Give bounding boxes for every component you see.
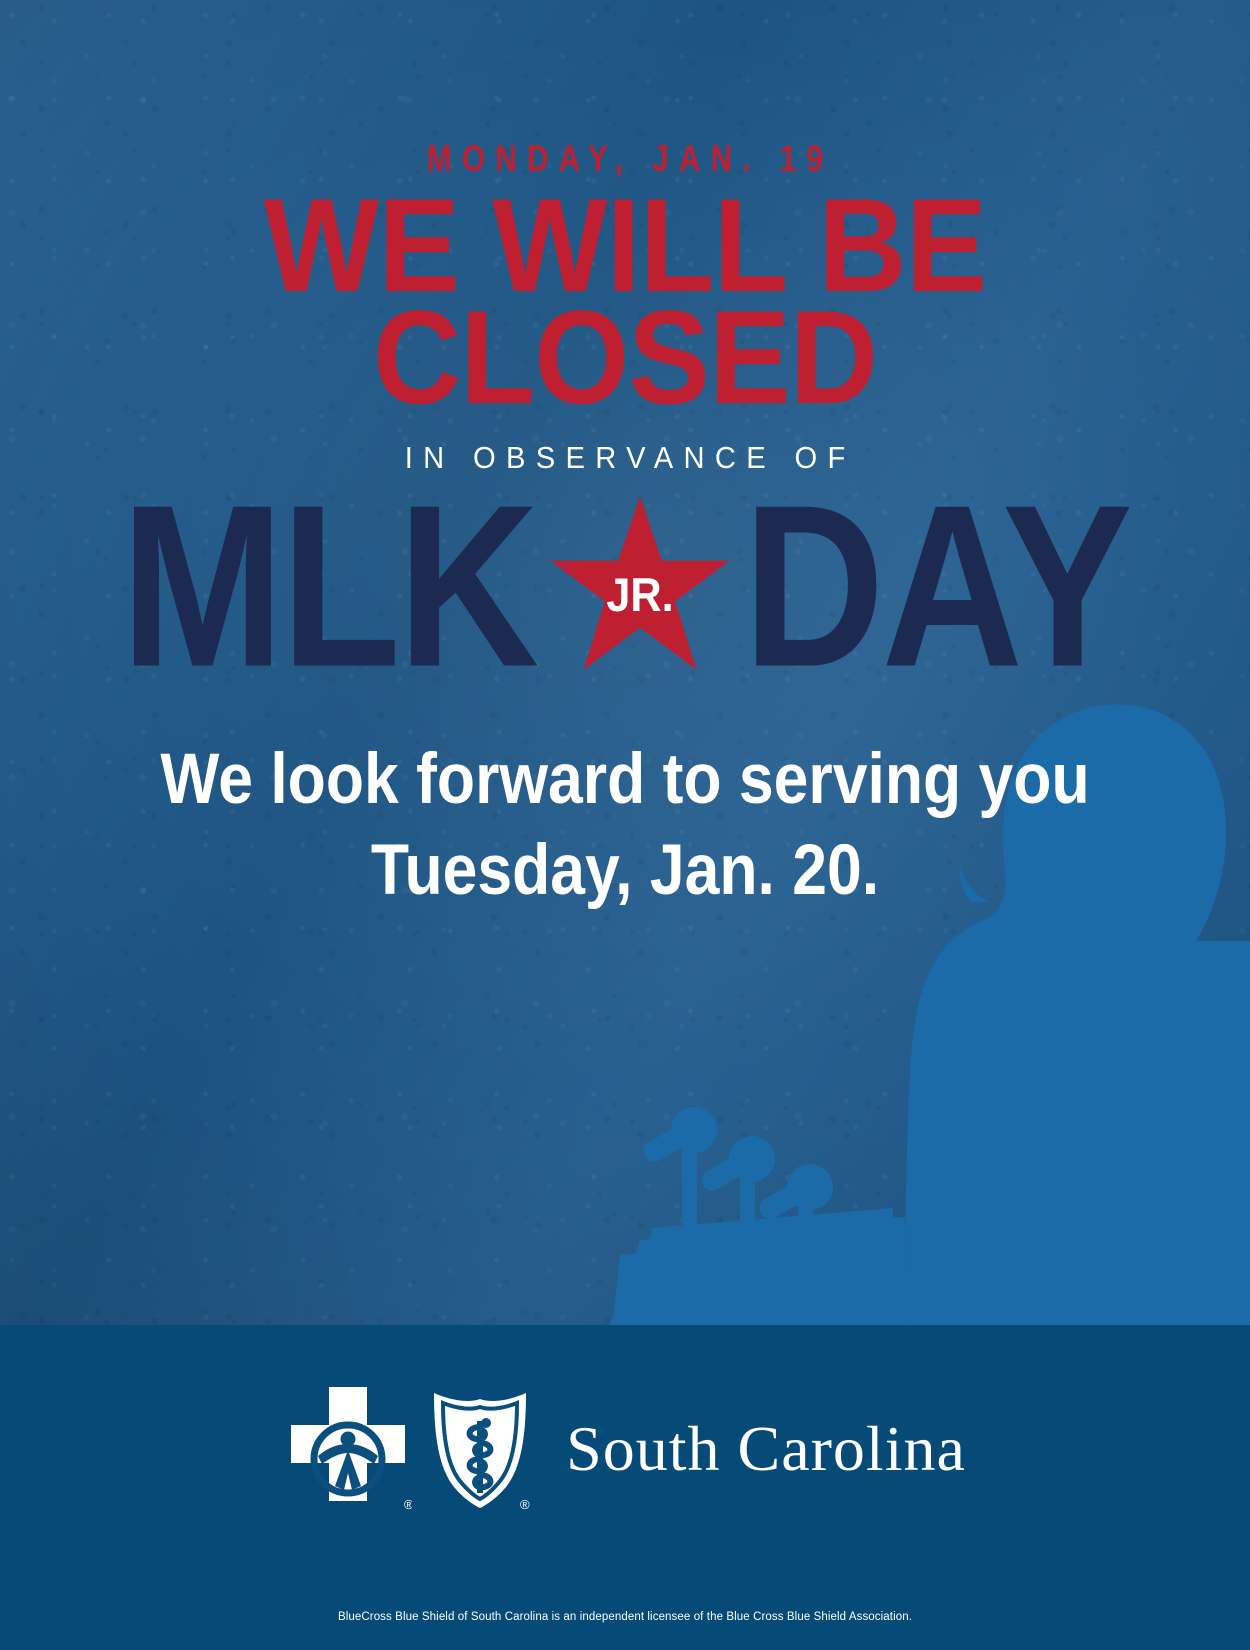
brand-name: South Carolina [566, 1417, 966, 1481]
cross-registered-mark: ® [404, 1497, 412, 1512]
poster-content: MONDAY, JAN. 19 WE WILL BE CLOSED IN OBS… [0, 0, 1250, 917]
holiday-text-day: DAY [743, 471, 1130, 702]
bluecross-cross-icon: ® [284, 1385, 412, 1513]
blueshield-shield-icon: ® [428, 1385, 532, 1513]
message-line-2: Tuesday, Jan. 20. [75, 826, 1175, 917]
legal-disclaimer: BlueCross Blue Shield of South Carolina … [0, 1611, 1250, 1623]
footer-band: ® ® South Carolina Bl [0, 1325, 1250, 1650]
holiday-text-mlk: MLK [121, 471, 536, 702]
star-jr-label: JR. [555, 501, 726, 687]
poster-canvas: MONDAY, JAN. 19 WE WILL BE CLOSED IN OBS… [0, 0, 1250, 1650]
holiday-title: MLK JR. DAY [0, 481, 1250, 691]
page-title: WE WILL BE CLOSED [50, 191, 1200, 414]
message-line-1: We look forward to serving you [75, 735, 1175, 826]
star-icon: JR. [547, 493, 733, 679]
shield-registered-mark: ® [520, 1497, 530, 1512]
brand-logo-lockup: ® ® South Carolina [0, 1385, 1250, 1513]
message-block: We look forward to serving you Tuesday, … [75, 735, 1175, 917]
